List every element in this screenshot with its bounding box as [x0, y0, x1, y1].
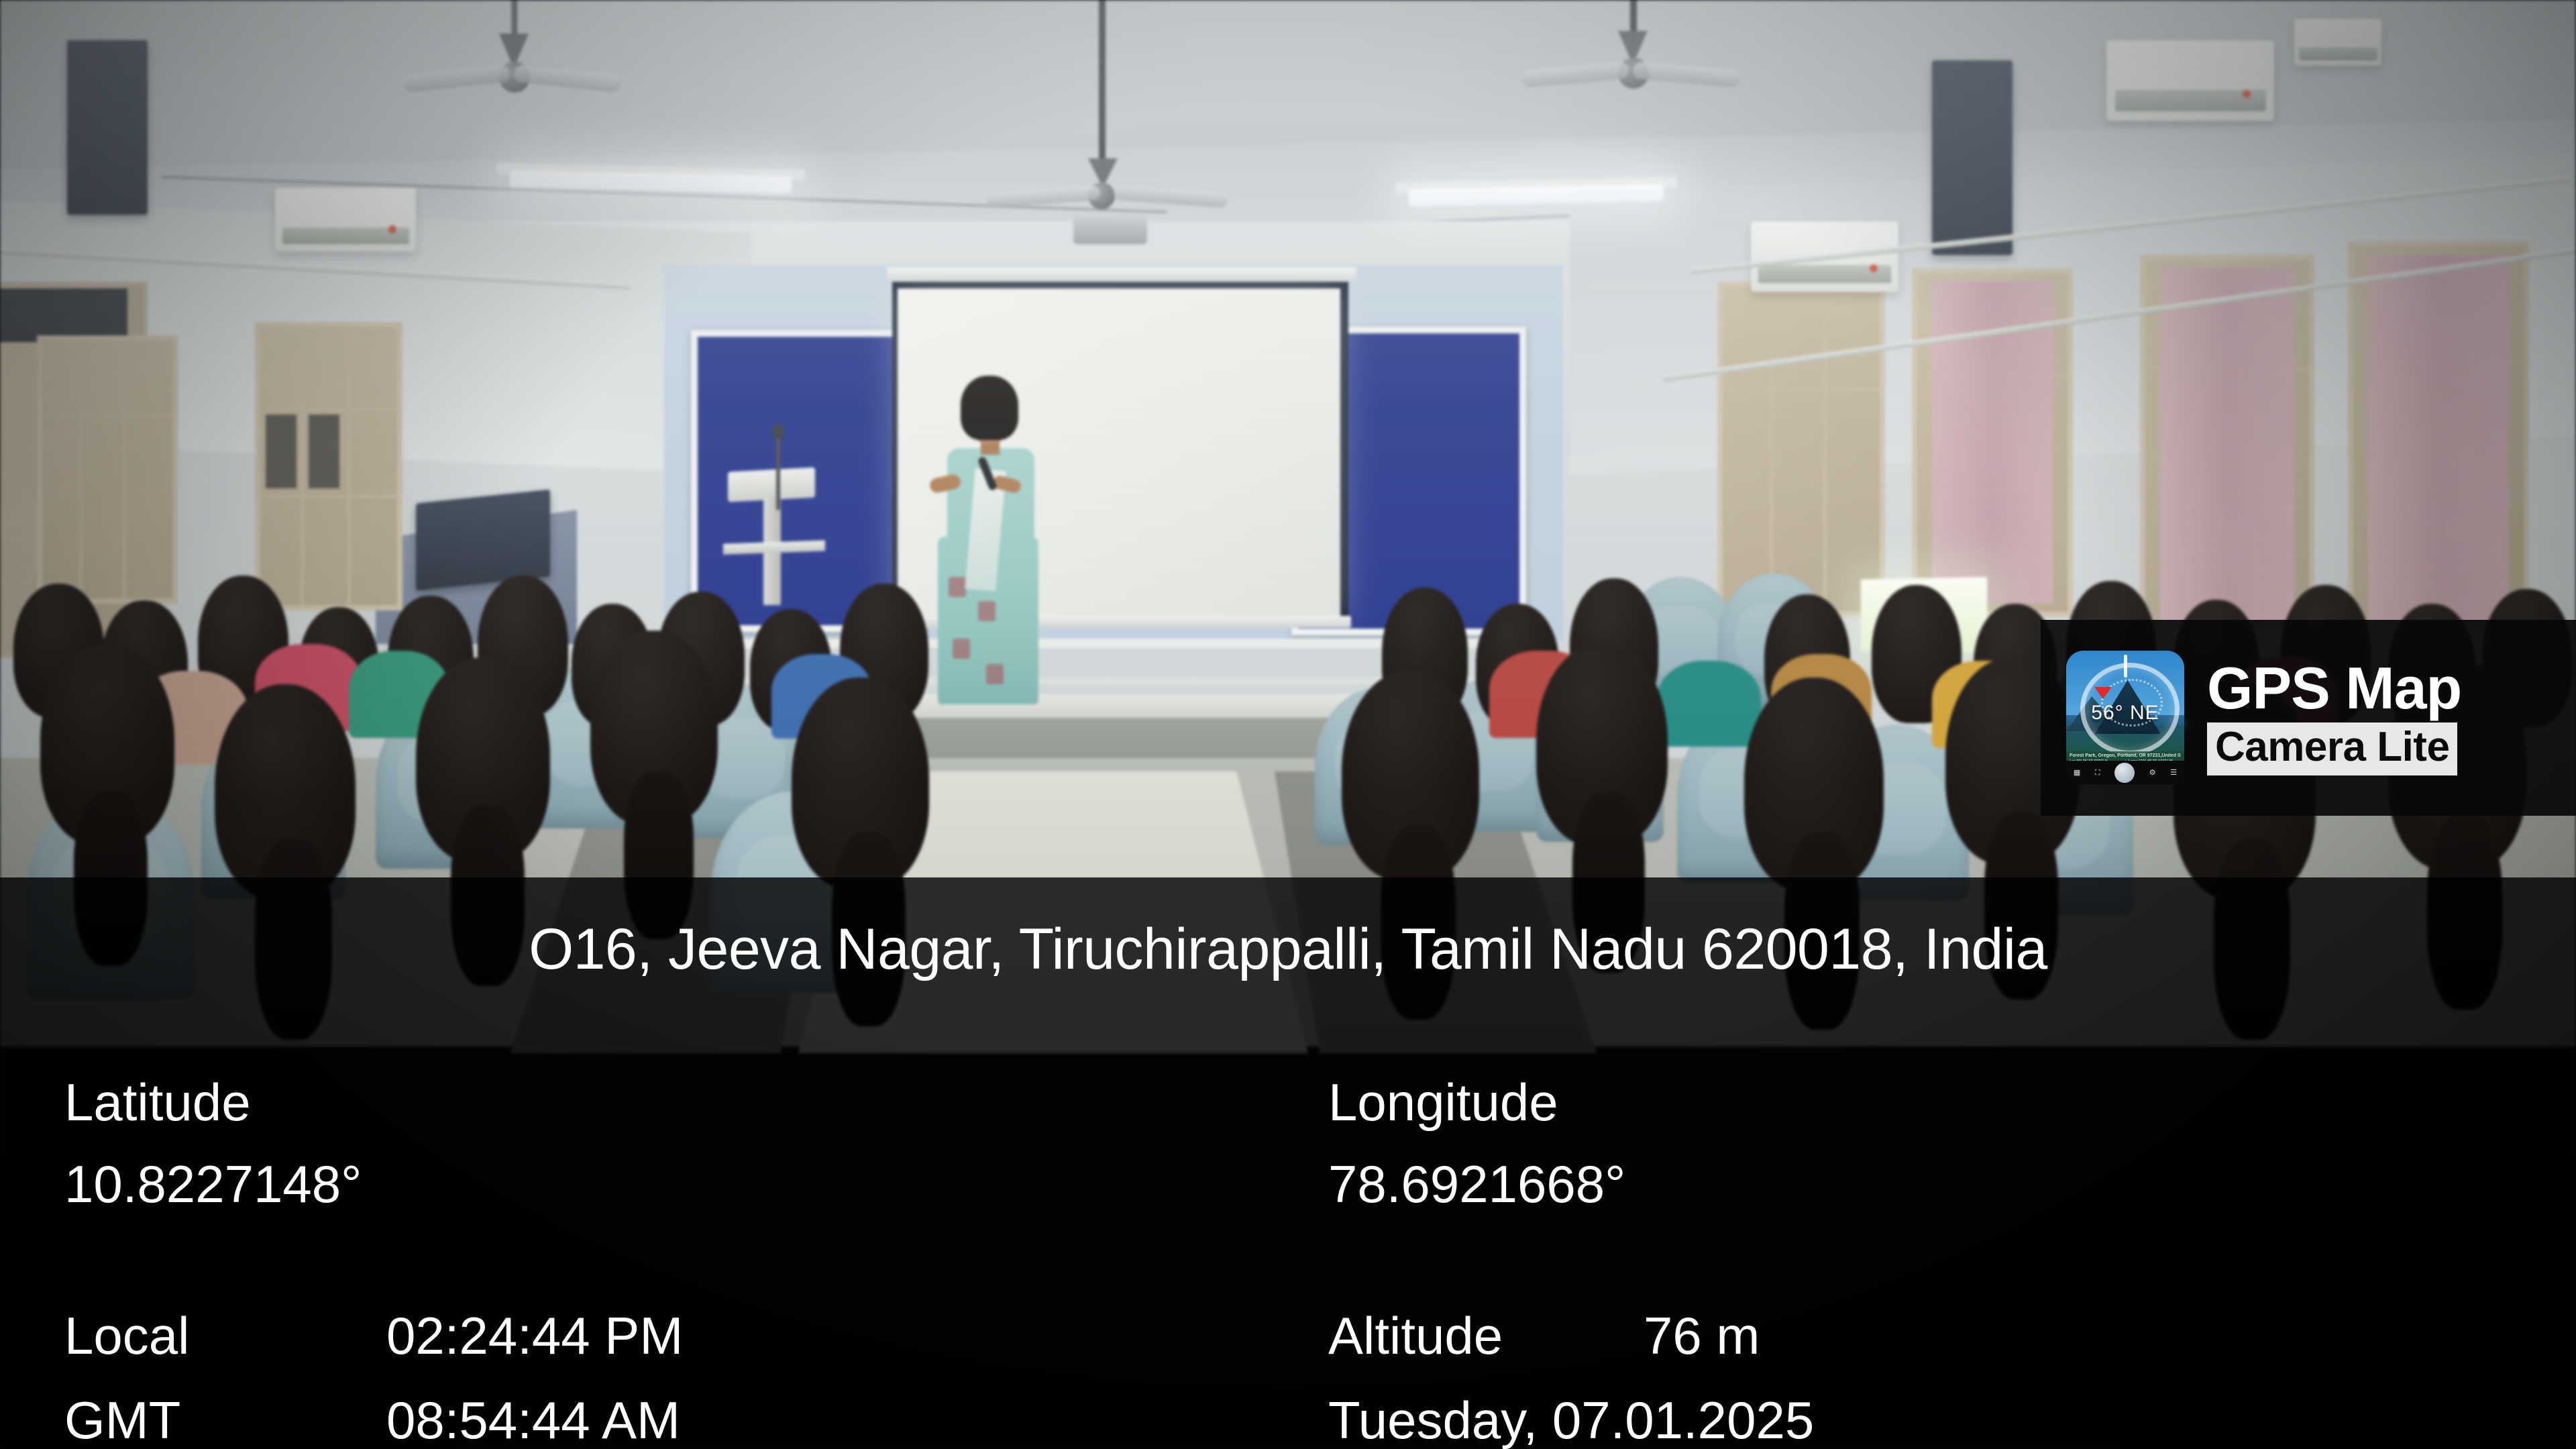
right-column: Longitude 78.6921668° Altitude 76 m Tues… — [1328, 1076, 2576, 1449]
wall-speaker-right — [1932, 60, 2012, 255]
gps-photo-root: 56° NE Forest Park, Oregon, Portland, OR… — [0, 0, 2576, 1449]
gps-map-camera-lite-app-icon: 56° NE Forest Park, Oregon, Portland, OR… — [2066, 651, 2184, 785]
microphone-icon — [772, 424, 784, 439]
altitude-date-block: Altitude 76 m Tuesday, 07.01.2025 — [1328, 1309, 2576, 1446]
window-right-1 — [1717, 282, 1885, 617]
door-transom — [0, 288, 127, 342]
gmt-value: 08:54:44 AM — [386, 1394, 680, 1446]
presenter-hair — [961, 376, 1018, 440]
time-block: Local 02:24:44 PM GMT 08:54:44 AM — [64, 1309, 1328, 1446]
compass-north-marker-icon — [2094, 687, 2112, 699]
left-column: Latitude 10.8227148° Local 02:24:44 PM G… — [0, 1076, 1328, 1449]
brand-name-gps-map: GPS Map — [2207, 660, 2461, 716]
curtain-right-3 — [2368, 255, 2509, 624]
ceiling-projector — [1073, 213, 1147, 244]
gps-map-camera-watermark: 56° NE Forest Park, Oregon, Portland, OR… — [2041, 620, 2576, 816]
longitude-value: 78.6921668° — [1328, 1158, 2576, 1210]
date-value: Tuesday, 07.01.2025 — [1328, 1394, 2576, 1446]
gmt-label: GMT — [64, 1394, 386, 1446]
brand-lockup: GPS Map Camera Lite — [2207, 660, 2461, 776]
local-label: Local — [64, 1309, 386, 1362]
wall-speaker-left — [67, 40, 148, 215]
fan-rod-2 — [1099, 0, 1106, 174]
crop-icon: ⛶ — [2095, 769, 2100, 777]
icon-address: Forest Park, Oregon, Portland, OR 97231,… — [2070, 753, 2181, 758]
air-conditioner-left — [275, 188, 416, 252]
local-value: 02:24:44 PM — [386, 1309, 683, 1362]
altitude-label: Altitude — [1328, 1309, 1644, 1362]
shutter-button-icon — [2114, 763, 2135, 783]
air-conditioner-right-2 — [2106, 40, 2274, 121]
presenter — [926, 376, 1053, 711]
address-text: O16, Jeeva Nagar, Tiruchirappalli, Tamil… — [0, 877, 2576, 978]
latitude-label: Latitude — [64, 1076, 1328, 1128]
audience-clothing — [1657, 661, 1761, 747]
altitude-row: Altitude 76 m — [1328, 1309, 2576, 1362]
lectern-top — [728, 468, 815, 502]
brand-name-camera-lite: Camera Lite — [2207, 722, 2457, 775]
window-left — [255, 322, 402, 610]
menu-icon: ☰ — [2170, 769, 2177, 777]
microphone-stand — [776, 429, 780, 510]
icon-camera-toolbar: ▦ ⛶ ⚙ ☰ — [2066, 761, 2184, 785]
latitude-value: 10.8227148° — [64, 1158, 1328, 1210]
local-time-row: Local 02:24:44 PM — [64, 1309, 1328, 1362]
longitude-label: Longitude — [1328, 1076, 2576, 1128]
refresh-icon: ⚙ — [2149, 769, 2156, 777]
window-left-2 — [37, 335, 178, 604]
gps-info-overlay: O16, Jeeva Nagar, Tiruchirappalli, Tamil… — [0, 877, 2576, 1449]
gmt-time-row: GMT 08:54:44 AM — [64, 1394, 1328, 1446]
coordinate-grid: Latitude 10.8227148° Local 02:24:44 PM G… — [0, 1076, 2576, 1449]
air-conditioner-right-3 — [2294, 19, 2381, 66]
screen-roller — [887, 267, 1356, 282]
compass-needle-icon — [2124, 655, 2127, 678]
altitude-value: 76 m — [1644, 1309, 1760, 1362]
icon-heading-text: 56° NE — [2066, 702, 2184, 724]
curtain-right-2 — [2160, 268, 2294, 624]
grid-icon: ▦ — [2074, 769, 2080, 777]
